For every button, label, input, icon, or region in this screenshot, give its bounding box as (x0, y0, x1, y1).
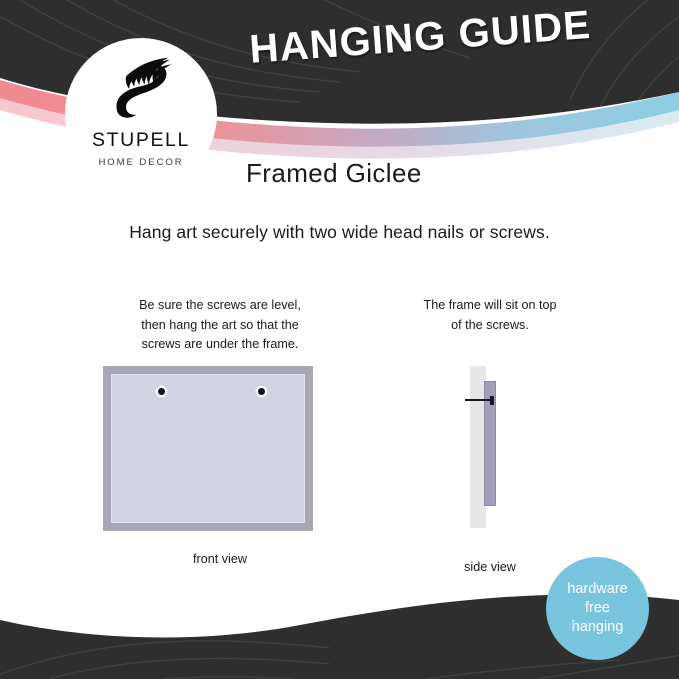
front-caption-line-2: then hang the art so that the (60, 316, 380, 336)
screw-dot-right (258, 388, 265, 395)
front-caption-line-3: screws are under the frame. (60, 335, 380, 355)
front-view-caption: Be sure the screws are level, then hang … (60, 296, 380, 355)
front-view-frame-diagram (103, 366, 313, 531)
side-view-panel: The frame will sit on top of the screws. (390, 296, 590, 335)
screw-dot-left (158, 388, 165, 395)
side-view-diagram (462, 366, 522, 531)
logo-wordmark: STUPELL (92, 131, 190, 151)
side-caption-line-2: of the screws. (390, 316, 590, 336)
logo-tagline: HOME DECOR (98, 157, 183, 168)
brand-logo-badge: STUPELL HOME DECOR (65, 38, 217, 190)
badge-line-2: free (585, 599, 610, 618)
product-type-subtitle: Framed Giclee (246, 158, 422, 189)
page-title: HANGING GUIDE (248, 3, 593, 73)
front-view-label: front view (60, 552, 380, 566)
lead-instruction-text: Hang art securely with two wide head nai… (0, 222, 679, 243)
front-view-mat (111, 374, 305, 523)
hanging-guide-page: STUPELL HOME DECOR HANGING GUIDE Framed … (0, 0, 679, 679)
stupell-swoosh-logo-icon (104, 54, 178, 128)
side-view-caption: The frame will sit on top of the screws. (390, 296, 590, 335)
side-caption-line-1: The frame will sit on top (390, 296, 590, 316)
badge-line-1: hardware (567, 580, 627, 599)
front-view-panel: Be sure the screws are level, then hang … (60, 296, 380, 355)
side-view-screw-shaft (465, 399, 493, 401)
badge-line-3: hanging (572, 618, 624, 637)
hardware-free-hanging-badge: hardware free hanging (546, 557, 649, 660)
front-caption-line-1: Be sure the screws are level, (60, 296, 380, 316)
side-view-screw-head (490, 396, 494, 405)
